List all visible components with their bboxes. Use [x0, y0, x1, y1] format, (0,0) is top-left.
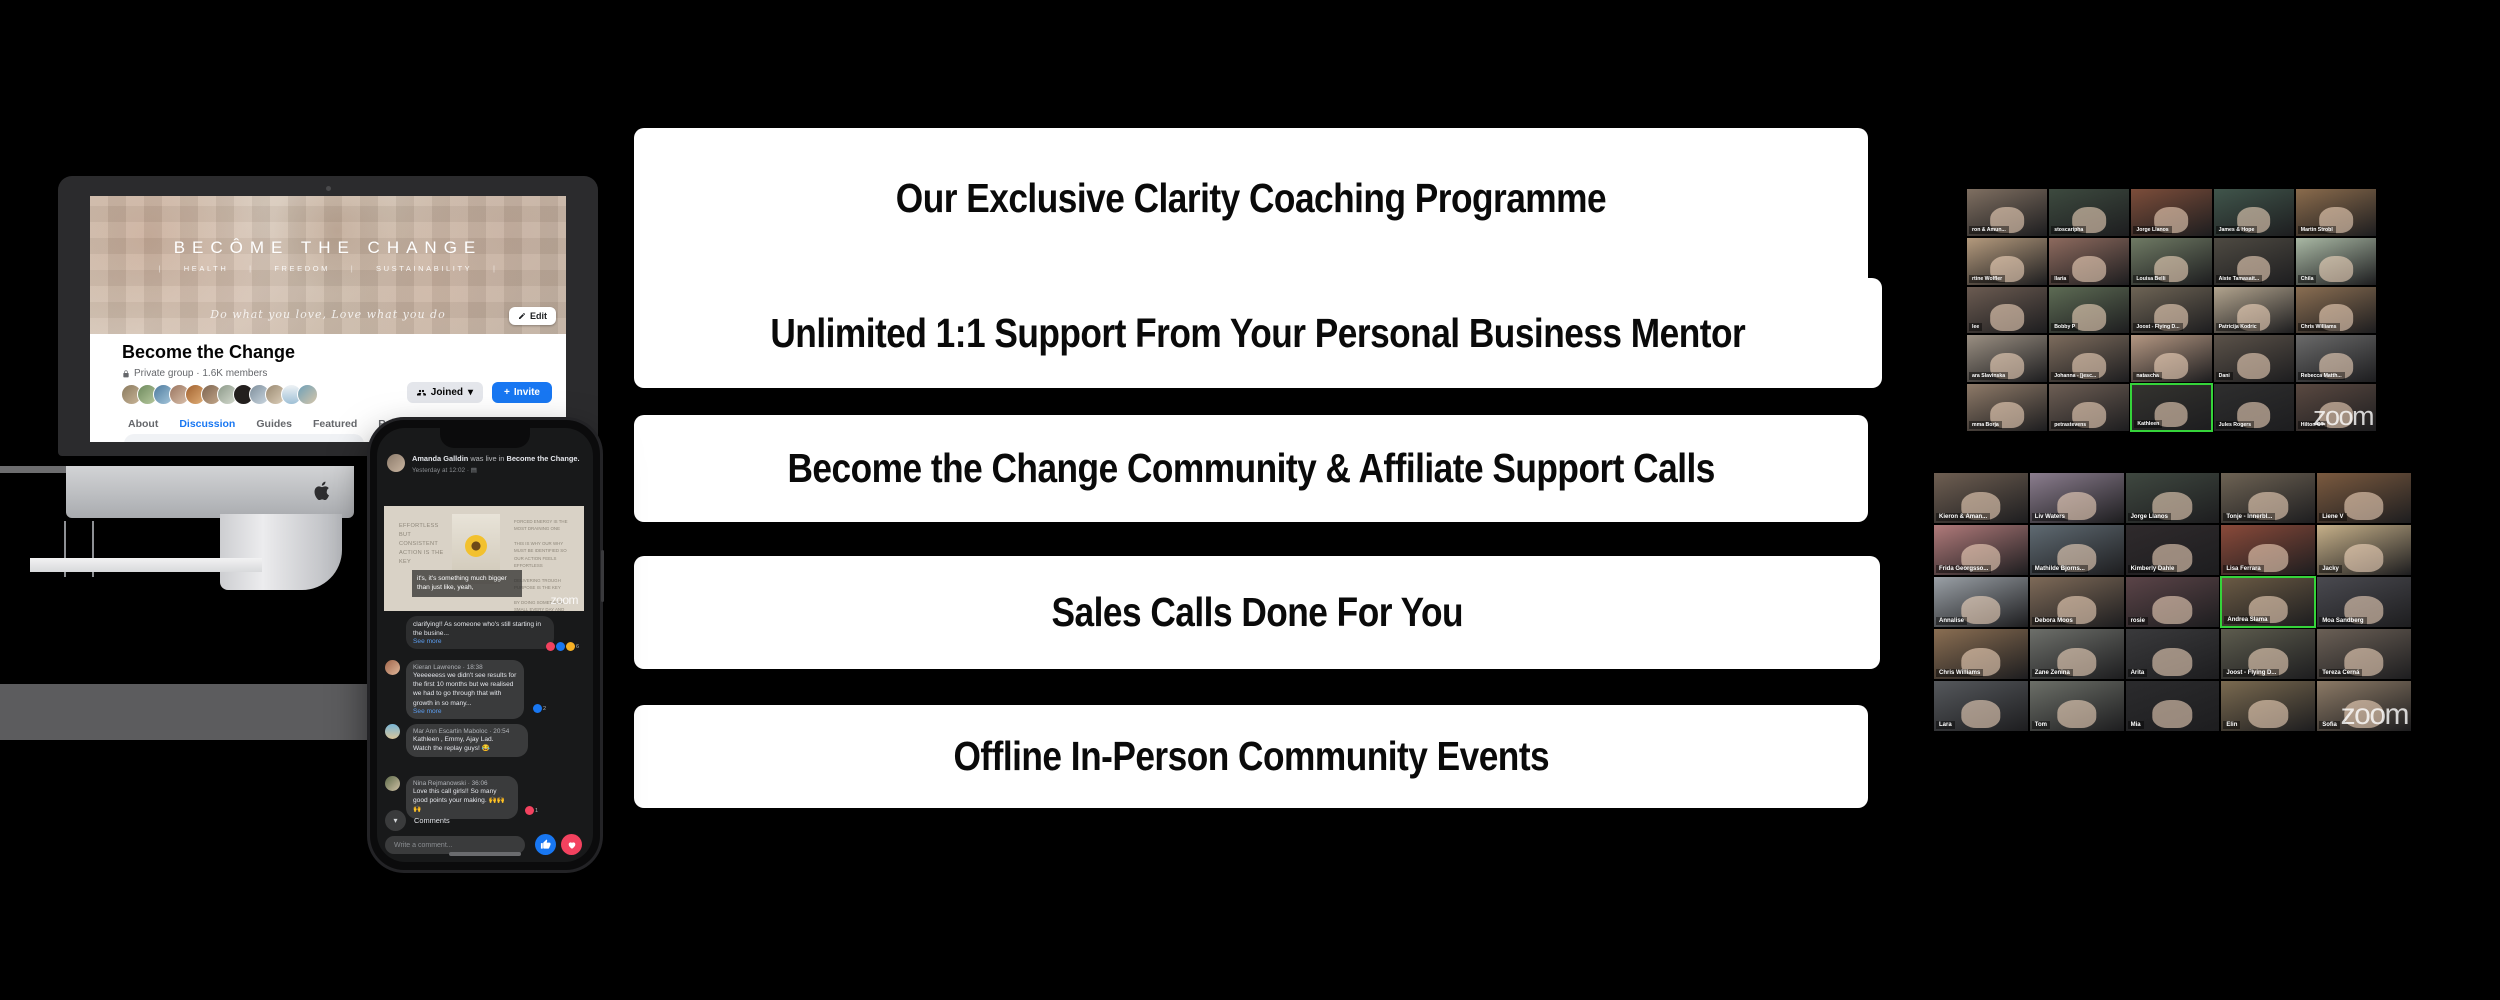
post-header: Amanda Galldin was live in Become the Ch… [377, 454, 593, 474]
comment-bubble[interactable]: Mar Ann Escartin Maboloc · 20:54 Kathlee… [406, 724, 528, 757]
zoom-participant-tile[interactable]: Elin [2220, 680, 2316, 732]
zoom-participant-tile[interactable]: Frida Georgsso... [1933, 524, 2029, 576]
participant-name: Rebecca Matth... [2298, 372, 2345, 380]
participant-video [1961, 596, 2000, 624]
comment-truncated: clarifying!! As someone who's still star… [385, 616, 585, 649]
comment-author-name: Kieran Lawrence [413, 664, 461, 671]
comment-author: Kieran Lawrence · 18:38 [413, 664, 517, 671]
participant-name: Lara [1936, 721, 1955, 729]
zoom-participant-tile[interactable]: Rebecca Matth... [2295, 334, 2377, 383]
participant-name: Tonje - Innerbl... [2223, 513, 2275, 521]
participant-name: Arita [2128, 669, 2148, 677]
zoom-participant-tile[interactable]: Kathleen [2130, 383, 2212, 432]
heart-icon [546, 642, 555, 651]
participant-name: Moa Sandberg [2319, 617, 2366, 625]
participant-name: Aiste Tamasait... [2216, 275, 2263, 283]
zoom-participant-tile[interactable]: Louisa Belli [2130, 237, 2212, 286]
comment-bubble[interactable]: Kieran Lawrence · 18:38 Yeeeeeess we did… [406, 660, 524, 719]
zoom-participant-tile[interactable]: Chris Williams [1933, 628, 2029, 680]
media-note-1: FORCED ENERGY IS THE MOST DRAINING ONE [514, 518, 576, 533]
zoom-participant-tile[interactable]: Lara [1933, 680, 2029, 732]
like-icon [556, 642, 565, 651]
zoom-participant-tile[interactable]: Patricija Kodric [2213, 286, 2295, 335]
participant-name: Ilaria [2051, 275, 2069, 283]
zoom-participant-tile[interactable]: Kimberly Dahle [2125, 524, 2221, 576]
imac-chin [66, 466, 354, 518]
participant-video [2072, 256, 2106, 282]
comment-item: Kieran Lawrence · 18:38 Yeeeeeess we did… [385, 660, 585, 719]
zoom-participant-tile[interactable]: Debora Moos [2029, 576, 2125, 628]
zoom-participant-tile[interactable]: Chris Williams [2295, 286, 2377, 335]
participant-name: mma Borja [1969, 421, 2002, 429]
members-icon: ▤ [471, 467, 477, 474]
comment-body: clarifying!! As someone who's still star… [413, 620, 547, 638]
phone-notch [440, 428, 530, 448]
member-avatars[interactable] [121, 384, 318, 405]
participant-video [2153, 700, 2192, 728]
feature-card-2[interactable]: Unlimited 1:1 Support From Your Personal… [634, 278, 1882, 388]
participant-video [2057, 700, 2096, 728]
imac-screen: BECÔME THE CHANGE | HEALTH | FREEDOM | S… [90, 196, 566, 442]
zoom-participant-tile[interactable]: mma Borja [1966, 383, 2048, 432]
participant-name: Mathilde Bjorns... [2032, 565, 2088, 573]
participant-name: lee [1969, 323, 1982, 331]
post-media[interactable]: EFFORTLESS BUT CONSISTENT ACTION IS THE … [384, 506, 584, 611]
live-caption: it's, it's something much bigger than ju… [412, 570, 522, 597]
phone-screen: Amanda Galldin was live in Become the Ch… [377, 428, 593, 862]
participant-name: Chila [2298, 275, 2317, 283]
participant-name: Johanna - [jesc... [2051, 372, 2099, 380]
comment-body: Kathleen , Emmy, Ajay Lad. [413, 735, 521, 744]
heart-icon [525, 806, 534, 815]
reaction-count: 6 [576, 644, 579, 650]
participant-name: Mia [2128, 721, 2144, 729]
post-target-group: Become the Change. [506, 454, 579, 463]
comment-author: Nina Rejmanowski · 36:06 [413, 780, 511, 787]
participant-name: Elin [2223, 721, 2240, 729]
zoom-participant-tile[interactable]: Aiste Tamasait... [2213, 237, 2295, 286]
zoom-participant-tile[interactable]: Andrea Slama [2220, 576, 2316, 628]
joined-button[interactable]: Joined ▾ [407, 382, 483, 403]
comment-bubble[interactable]: clarifying!! As someone who's still star… [406, 616, 554, 649]
participant-name: Martin Strobl [2298, 226, 2336, 234]
zoom-participant-tile[interactable]: Kieron & Aman... [1933, 472, 2029, 524]
imac-decor-line [0, 466, 68, 473]
zoom-participant-tile[interactable]: Lisa Ferrara [2220, 524, 2316, 576]
participant-name: James & Hope [2216, 226, 2258, 234]
webcam-icon [326, 186, 331, 191]
participant-name: Patricija Kodric [2216, 323, 2260, 331]
reaction-count: 1 [535, 808, 538, 814]
participant-video [2249, 700, 2288, 728]
zoom-participant-tile[interactable]: Jules Rogers [2213, 383, 2295, 432]
imac-stand-foot [30, 558, 262, 572]
reaction-pill[interactable]: 1 [525, 806, 538, 815]
participant-name: Sofia [2319, 721, 2340, 729]
pencil-icon [518, 312, 526, 320]
phone-power-button[interactable] [601, 550, 604, 602]
media-note-3: DELIVERING TROUGH PURPOSE IS THE KEY [514, 577, 576, 592]
comment-time: · 36:06 [468, 780, 488, 787]
participant-name: Lisa Ferrara [2223, 565, 2263, 573]
comments-label: Comments [414, 816, 450, 825]
comment-item: Mar Ann Escartin Maboloc · 20:54 Kathlee… [385, 724, 585, 757]
feature-card-3-label: Become the Change Community & Affiliate … [787, 445, 1714, 492]
zoom-participant-tile[interactable]: Zane Zenina [2029, 628, 2125, 680]
zoom-participant-tile[interactable]: Ilaria [2048, 237, 2130, 286]
post-time-text: Yesterday at 12:02 [412, 467, 465, 474]
participant-name: Liene V [2319, 513, 2346, 521]
invite-label: Invite [514, 387, 540, 398]
participant-name: Kathleen [2134, 420, 2162, 428]
participant-name: Bobby P [2051, 323, 2078, 331]
reaction-pill[interactable]: 2 [533, 704, 546, 713]
chevron-down-icon: ▾ [468, 387, 473, 398]
participant-video [2153, 596, 2192, 624]
post-status-line: Amanda Galldin was live in Become the Ch… [412, 454, 580, 464]
participant-name: Tom [2032, 721, 2050, 729]
zoom-participant-tile[interactable]: Tom [2029, 680, 2125, 732]
zoom-participant-tile[interactable]: Jacky [2316, 524, 2412, 576]
cover-pillar-sustainability: SUSTAINABILITY [376, 264, 472, 273]
group-name: Become the Change [122, 342, 295, 363]
zoom-participant-tile[interactable]: Liene V [2316, 472, 2412, 524]
avatar [385, 776, 400, 791]
group-meta: Private group · 1.6K members [122, 368, 267, 379]
participant-name: Zane Zenina [2032, 669, 2073, 677]
zoom-watermark: zoom [551, 593, 578, 607]
people-icon [417, 388, 426, 397]
participant-video [2153, 648, 2192, 676]
participant-video [2319, 256, 2353, 282]
comment-author-name: Nina Rejmanowski [413, 780, 466, 787]
chevron-down-icon[interactable]: ▾ [385, 810, 406, 831]
post-author-avatar [387, 454, 405, 472]
see-more-link[interactable]: See more [413, 708, 517, 715]
participant-name: Chris Williams [1936, 669, 1983, 677]
imac-stand-neck [220, 514, 342, 590]
zoom-participant-tile[interactable]: Mathilde Bjorns... [2029, 524, 2125, 576]
avatar [297, 384, 318, 405]
participant-name: natascha [2133, 372, 2162, 380]
cover-edit-button[interactable]: Edit [509, 307, 556, 325]
apple-logo-icon [313, 480, 332, 502]
zoom-participant-tile[interactable]: Liv Waters [2029, 472, 2125, 524]
cover-pillar-health: HEALTH [184, 264, 229, 273]
zoom-participant-tile[interactable]: lee [1966, 286, 2048, 335]
zoom-participant-tile[interactable]: Annalise [1933, 576, 2029, 628]
thumbs-up-icon [540, 839, 551, 850]
zoom-call-grid-top[interactable]: ron & Amun...stoscariphaJorge LlanosJame… [1966, 188, 2377, 432]
like-icon [533, 704, 542, 713]
see-more-link[interactable]: See more [413, 638, 547, 645]
zoom-participant-tile[interactable]: Joost - Flying D... [2220, 628, 2316, 680]
zoom-participant-tile[interactable]: Chila [2295, 237, 2377, 286]
comments-toggle[interactable]: ▾ Comments [385, 810, 450, 831]
comment-body: Yeeeeeess we didn't see results for the … [413, 671, 517, 708]
participant-name: Annalise [1936, 617, 1967, 625]
zoom-participant-tile[interactable]: ron & Amun... [1966, 188, 2048, 237]
avatar [385, 660, 400, 675]
participant-name: Louisa Belli [2133, 275, 2168, 283]
imac-shadow-bar [0, 684, 400, 740]
comment-time: · 20:54 [489, 728, 509, 735]
reaction-pill[interactable]: 6 [546, 642, 579, 651]
feature-card-1-label: Our Exclusive Clarity Coaching Programme [896, 175, 1606, 222]
zoom-participant-tile[interactable]: Dani [2213, 334, 2295, 383]
media-headline: EFFORTLESS BUT CONSISTENT ACTION IS THE … [399, 522, 447, 567]
cover-title: BECÔME THE CHANGE [90, 238, 566, 258]
comment-author-name: Mar Ann Escartin Maboloc [413, 728, 488, 735]
comment-input-placeholder: Write a comment... [394, 842, 453, 849]
participant-name: Liv Waters [2032, 513, 2068, 521]
comment-author: Mar Ann Escartin Maboloc · 20:54 [413, 728, 521, 735]
participant-name: Chris Williams [2298, 323, 2340, 331]
zoom-participant-tile[interactable]: Joost - Flying D... [2130, 286, 2212, 335]
media-note-2: THIS IS WHY OUR WHY MUST BE IDENTIFIED S… [514, 540, 576, 570]
zoom-participant-tile[interactable]: natascha [2130, 334, 2212, 383]
participant-video [2344, 700, 2383, 728]
participant-video [2344, 492, 2383, 520]
group-meta-text: Private group · 1.6K members [134, 368, 267, 379]
participant-name: Kimberly Dahle [2128, 565, 2178, 573]
lock-icon [122, 370, 130, 378]
participant-name: Kieron & Aman... [1936, 513, 1990, 521]
zoom-participant-tile[interactable]: Johanna - [jesc... [2048, 334, 2130, 383]
participant-video [2237, 353, 2271, 379]
imac-bezel: BECÔME THE CHANGE | HEALTH | FREEDOM | S… [58, 176, 598, 456]
participant-name: Tereza Černá [2319, 669, 2362, 677]
participant-name: stoscaripha [2051, 226, 2086, 234]
zoom-participant-tile[interactable]: Martin Strobl [2295, 188, 2377, 237]
participant-name: Hilton C? [2298, 421, 2327, 429]
participant-video [1961, 700, 2000, 728]
post-composer[interactable] [124, 434, 364, 442]
feature-card-3[interactable]: Become the Change Community & Affiliate … [634, 415, 1868, 522]
participant-name: Andrea Slama [2224, 616, 2270, 624]
zoom-participant-tile[interactable]: ara Slavinska [1966, 334, 2048, 383]
comment-time: · 18:38 [463, 664, 483, 671]
zoom-participant-tile[interactable]: Hilton C? [2295, 383, 2377, 432]
participant-video [1990, 304, 2024, 330]
heart-button[interactable] [561, 834, 582, 855]
home-indicator [449, 852, 521, 856]
participant-name: rosie [2128, 617, 2148, 625]
participant-name: Jacky [2319, 565, 2342, 573]
cover-tagline: Do what you love, Love what you do [90, 308, 566, 321]
iphone-mockup: Amanda Galldin was live in Become the Ch… [370, 420, 600, 870]
cover-pillar-freedom: FREEDOM [274, 264, 330, 273]
comment-body-2: Watch the replay guys! 😂 [413, 744, 521, 753]
feature-card-4[interactable]: Sales Calls Done For You [634, 556, 1880, 669]
joined-label: Joined [431, 387, 463, 398]
participant-name: Jules Rogers [2216, 421, 2255, 429]
feature-card-5[interactable]: Offline In-Person Community Events [634, 705, 1868, 808]
participant-name: Jorge Llanos [2133, 226, 2171, 234]
comment-body: Love this call girls!! So many [413, 787, 511, 796]
zoom-participant-tile[interactable]: Sofia [2316, 680, 2412, 732]
zoom-participant-tile[interactable]: Tereza Černá [2316, 628, 2412, 680]
participant-name: ron & Amun... [1969, 226, 2009, 234]
invite-button[interactable]: + Invite [492, 382, 552, 403]
participant-name: Joost - Flying D... [2223, 669, 2279, 677]
cover-edit-label: Edit [530, 311, 547, 321]
participant-name: Joost - Flying D... [2133, 323, 2182, 331]
cover-pillars: | HEALTH | FREEDOM | SUSTAINABILITY | [90, 264, 566, 273]
zoom-call-grid-bottom[interactable]: Kieron & Aman...Liv WatersJorge LlanosTo… [1933, 472, 2412, 732]
zoom-participant-tile[interactable]: Mia [2125, 680, 2221, 732]
participant-name: Debora Moos [2032, 617, 2076, 625]
plus-icon: + [504, 387, 510, 398]
avatar [385, 616, 400, 631]
zoom-participant-tile[interactable]: rtine Wolfler [1966, 237, 2048, 286]
zoom-participant-tile[interactable]: rosie [2125, 576, 2221, 628]
zoom-participant-tile[interactable]: Moa Sandberg [2316, 576, 2412, 628]
group-cover-photo: BECÔME THE CHANGE | HEALTH | FREEDOM | S… [90, 196, 566, 334]
feature-card-4-label: Sales Calls Done For You [1051, 589, 1463, 636]
zoom-participant-tile[interactable]: Jorge Llanos [2130, 188, 2212, 237]
avatar [385, 724, 400, 739]
post-timestamp: Yesterday at 12:02 · ▤ [412, 466, 580, 474]
zoom-participant-tile[interactable]: Bobby P [2048, 286, 2130, 335]
zoom-participant-tile[interactable]: Jorge Llanos [2125, 472, 2221, 524]
participant-name: rtine Wolfler [1969, 275, 2005, 283]
feature-card-2-label: Unlimited 1:1 Support From Your Personal… [771, 310, 1746, 357]
zoom-participant-tile[interactable]: James & Hope [2213, 188, 2295, 237]
participant-name: Frida Georgsso... [1936, 565, 1991, 573]
post-author-name: Amanda Galldin [412, 454, 468, 463]
care-icon [566, 642, 575, 651]
zoom-participant-tile[interactable]: petrastevens [2048, 383, 2130, 432]
like-button[interactable] [535, 834, 556, 855]
zoom-participant-tile[interactable]: Tonje - Innerbl... [2220, 472, 2316, 524]
feature-card-5-label: Offline In-Person Community Events [953, 733, 1549, 780]
post-action: was live in [470, 454, 504, 463]
reaction-count: 2 [543, 706, 546, 712]
zoom-participant-tile[interactable]: stoscaripha [2048, 188, 2130, 237]
participant-name: ara Slavinska [1969, 372, 2008, 380]
participant-name: Jorge Llanos [2128, 513, 2171, 521]
group-action-buttons: Joined ▾ + Invite [407, 382, 552, 403]
participant-name: petrastevens [2051, 421, 2089, 429]
zoom-participant-tile[interactable]: Arita [2125, 628, 2221, 680]
participant-name: Dani [2216, 372, 2233, 380]
participant-video [2344, 544, 2383, 572]
heart-icon [567, 840, 577, 850]
